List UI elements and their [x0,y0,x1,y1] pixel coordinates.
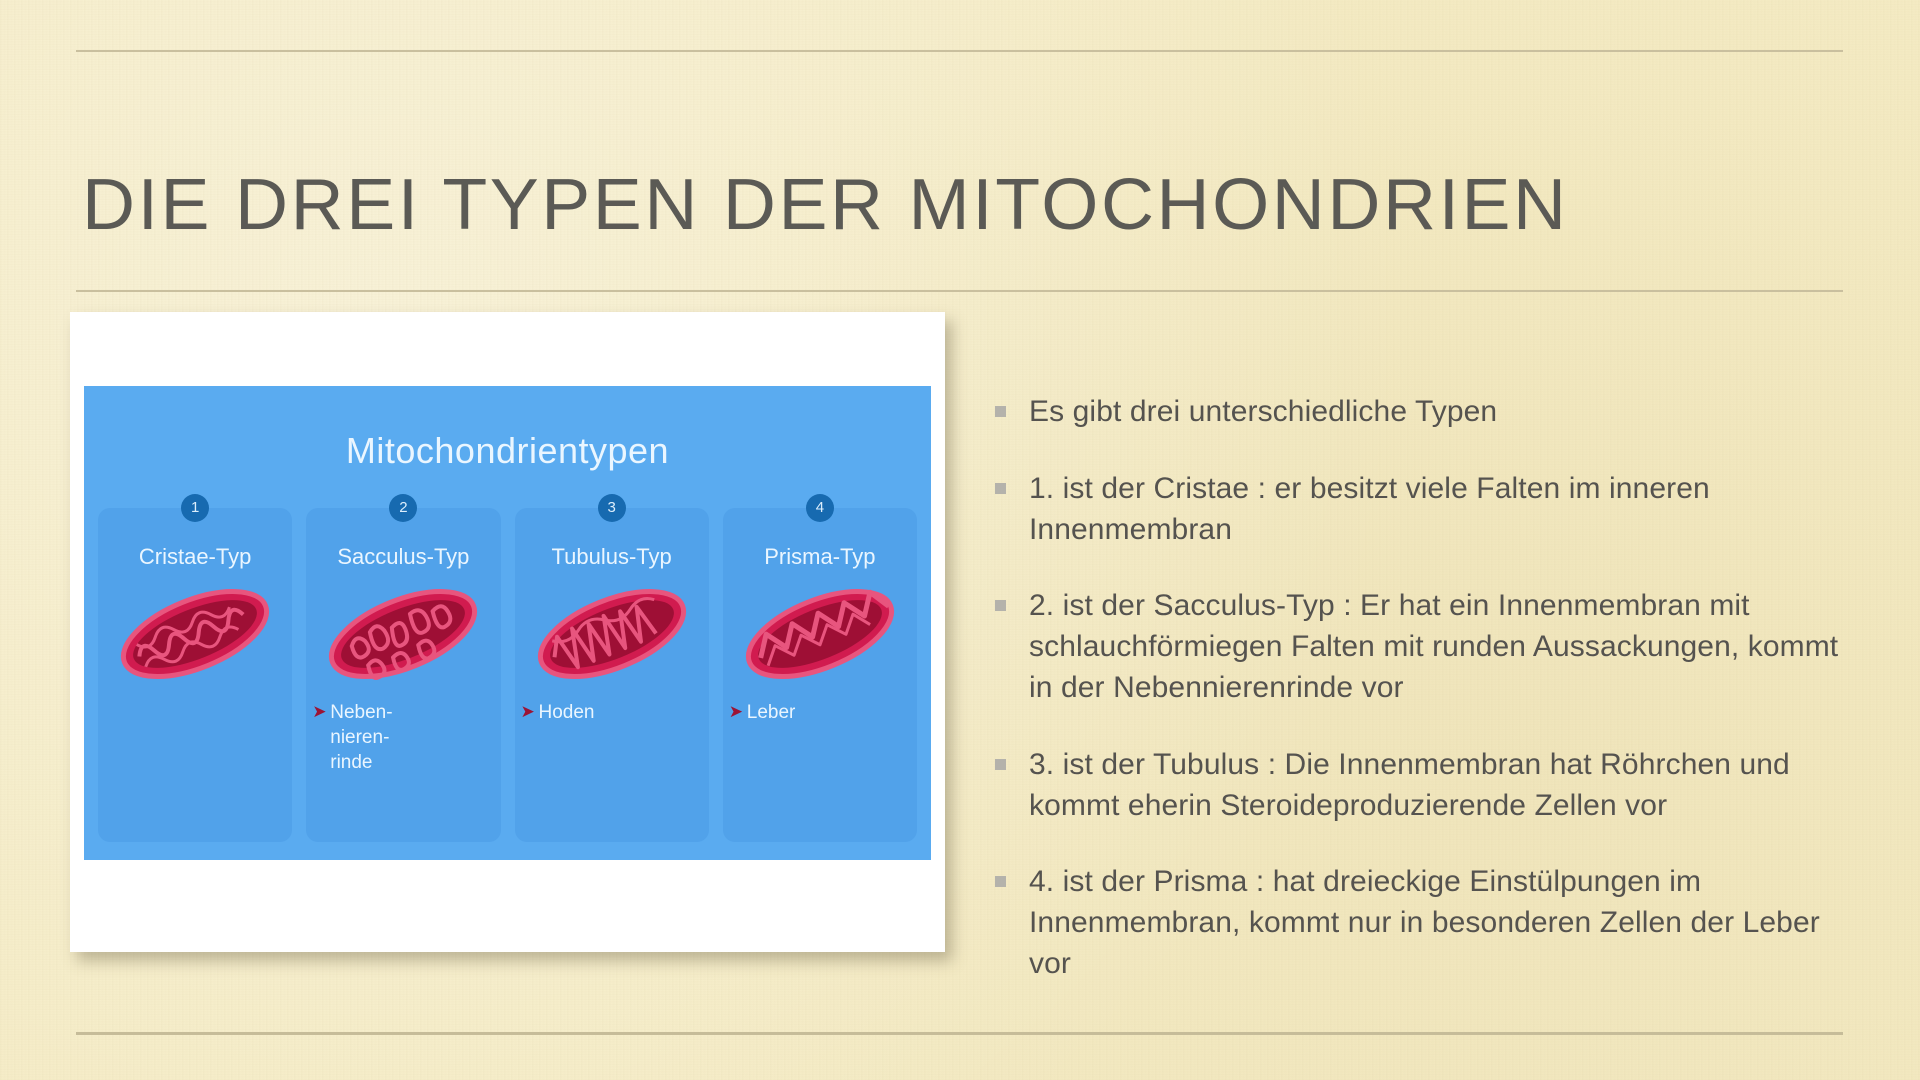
list-item: Es gibt drei unterschiedliche Typen [985,392,1845,433]
square-bullet-icon [995,759,1006,770]
card-organ: ➤Neben- nieren- rinde [306,700,500,775]
divider-bottom [76,1032,1843,1035]
card-prisma[interactable]: 4 Prisma-Typ ➤Leber [723,508,917,842]
card-number-badge: 2 [389,494,417,522]
list-item: 4. ist der Prisma : hat dreieckige Einst… [985,862,1845,984]
divider-middle [76,290,1843,292]
card-sacculus[interactable]: 2 Sacculus-Typ [306,508,500,842]
list-item: 1. ist der Cristae : er besitzt viele Fa… [985,469,1845,551]
card-organ-label: Leber [747,702,796,723]
card-number-badge: 4 [806,494,834,522]
list-item-text: Es gibt drei unterschiedliche Typen [1029,395,1497,428]
square-bullet-icon [995,876,1006,887]
card-organ-label: Neben- nieren- rinde [330,702,392,773]
card-cristae[interactable]: 1 Cristae-Typ [98,508,292,842]
divider-top [76,50,1843,52]
square-bullet-icon [995,406,1006,417]
mitochondria-infographic: Mitochondrientypen 1 Cristae-Typ [84,386,931,860]
list-item-text: 1. ist der Cristae : er besitzt viele Fa… [1029,472,1710,546]
card-number-badge: 3 [598,494,626,522]
card-organ-label: Hoden [539,702,595,723]
card-number-badge: 1 [181,494,209,522]
bullet-list: Es gibt drei unterschiedliche Typen 1. i… [985,392,1845,1021]
card-label: Sacculus-Typ [306,544,500,570]
card-row: 1 Cristae-Typ 2 Sacculus-Typ [98,508,917,842]
card-label: Cristae-Typ [98,544,292,570]
infographic-title: Mitochondrientypen [84,430,931,472]
mitochondrion-cristae-icon [107,578,283,690]
card-label: Tubulus-Typ [515,544,709,570]
list-item-text: 2. ist der Sacculus-Typ : Er hat ein Inn… [1029,589,1838,704]
list-item-text: 3. ist der Tubulus : Die Innenmembran ha… [1029,748,1790,822]
card-tubulus[interactable]: 3 Tubulus-Typ ➤Hoden [515,508,709,842]
list-item-text: 4. ist der Prisma : hat dreieckige Einst… [1029,865,1820,980]
mitochondrion-prisma-icon [732,578,908,690]
card-organ: ➤Leber [723,700,917,725]
arrow-icon: ➤ [521,701,535,723]
arrow-icon: ➤ [729,701,743,723]
list-item: 2. ist der Sacculus-Typ : Er hat ein Inn… [985,586,1845,708]
card-label: Prisma-Typ [723,544,917,570]
mitochondrion-sacculus-icon [315,578,491,690]
list-item: 3. ist der Tubulus : Die Innenmembran ha… [985,745,1845,827]
square-bullet-icon [995,600,1006,611]
mitochondrion-tubulus-icon [524,578,700,690]
illustration-frame: Mitochondrientypen 1 Cristae-Typ [70,312,945,952]
square-bullet-icon [995,483,1006,494]
page-title: DIE DREI TYPEN DER MITOCHONDRIEN [82,164,1569,246]
arrow-icon: ➤ [312,701,326,723]
card-organ: ➤Hoden [515,700,709,725]
